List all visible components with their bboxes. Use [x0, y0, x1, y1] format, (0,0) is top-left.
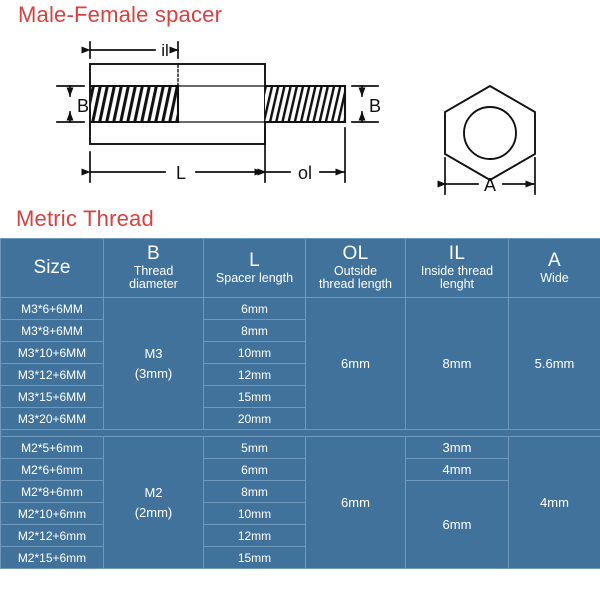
table-row: M3*6+6MMM3(3mm)6mm6mm8mm5.6mm — [1, 298, 600, 320]
cell-spacer-length: 20mm — [204, 408, 306, 430]
cell-inside-thread-length: 4mm — [406, 459, 509, 481]
label-ol: ol — [298, 163, 312, 183]
table-section-gap-cell — [1, 430, 600, 437]
cell-inside-thread-length: 3mm — [406, 437, 509, 459]
cell-wide: 4mm — [509, 437, 600, 569]
column-header-b-sub1: Thread — [104, 265, 203, 279]
cell-thread-diameter-paren: (2mm) — [104, 503, 203, 523]
column-header-b-sub2: diameter — [104, 278, 203, 292]
cell-spacer-length: 15mm — [204, 547, 306, 569]
spacer-technical-drawing: il B B L ol A — [0, 24, 600, 206]
cell-spacer-length: 10mm — [204, 342, 306, 364]
column-header-b-main: B — [104, 244, 203, 265]
cell-spacer-length: 8mm — [204, 320, 306, 342]
column-header-ol: OL Outside thread length — [306, 239, 406, 298]
page-title-metric-thread: Metric Thread — [16, 206, 154, 232]
spec-sheet-page: Male-Female spacer — [0, 0, 600, 600]
cell-size: M3*6+6MM — [1, 298, 104, 320]
table-body: M3*6+6MMM3(3mm)6mm6mm8mm5.6mmM3*8+6MM8mm… — [1, 298, 600, 569]
cell-thread-diameter: M3(3mm) — [104, 298, 204, 430]
cell-size: M2*10+6mm — [1, 503, 104, 525]
external-thread-hatch — [265, 86, 345, 122]
column-header-l-main: L — [204, 251, 305, 272]
cell-spacer-length: 6mm — [204, 459, 306, 481]
cell-inside-thread-length: 6mm — [406, 481, 509, 569]
cell-spacer-length: 15mm — [204, 386, 306, 408]
column-header-l: L Spacer length — [204, 239, 306, 298]
cell-size: M3*12+6MM — [1, 364, 104, 386]
cell-size: M3*15+6MM — [1, 386, 104, 408]
cell-spacer-length: 6mm — [204, 298, 306, 320]
label-b-left: B — [77, 96, 89, 116]
column-header-a-main: A — [509, 251, 600, 272]
internal-thread-hatch — [91, 86, 178, 122]
label-l: L — [176, 163, 186, 183]
column-header-il: IL Inside thread lenght — [406, 239, 509, 298]
metric-thread-spec-table-wrapper: Size B Thread diameter L Spacer length O… — [0, 238, 600, 569]
cell-size: M2*12+6mm — [1, 525, 104, 547]
cell-size: M2*6+6mm — [1, 459, 104, 481]
metric-thread-spec-table: Size B Thread diameter L Spacer length O… — [0, 238, 600, 569]
cell-inside-thread-length: 8mm — [406, 298, 509, 430]
table-header-row: Size B Thread diameter L Spacer length O… — [1, 239, 600, 298]
cell-size: M2*8+6mm — [1, 481, 104, 503]
cell-wide: 5.6mm — [509, 298, 600, 430]
cell-thread-diameter-value: M3 — [104, 344, 203, 364]
cell-thread-diameter: M2(2mm) — [104, 437, 204, 569]
column-header-il-main: IL — [406, 244, 508, 265]
column-header-il-sub2: lenght — [406, 278, 508, 292]
column-header-ol-sub2: thread length — [306, 278, 405, 292]
table-section-gap — [1, 430, 600, 437]
label-b-right: B — [369, 96, 381, 116]
column-header-size-label: Size — [1, 258, 103, 279]
label-il: il — [161, 41, 169, 60]
cell-size: M3*8+6MM — [1, 320, 104, 342]
cell-outside-thread-length: 6mm — [306, 298, 406, 430]
cell-spacer-length: 10mm — [204, 503, 306, 525]
cell-thread-diameter-value: M2 — [104, 483, 203, 503]
column-header-a-sub1: Wide — [509, 272, 600, 286]
column-header-a: A Wide — [509, 239, 600, 298]
column-header-ol-main: OL — [306, 244, 405, 265]
column-header-ol-sub1: Outside — [306, 265, 405, 279]
column-header-l-sub1: Spacer length — [204, 272, 305, 286]
cell-thread-diameter-paren: (3mm) — [104, 364, 203, 384]
cell-size: M3*10+6MM — [1, 342, 104, 364]
cell-spacer-length: 12mm — [204, 525, 306, 547]
table-row: M2*5+6mmM2(2mm)5mm6mm3mm4mm — [1, 437, 600, 459]
cell-spacer-length: 12mm — [204, 364, 306, 386]
column-header-il-sub1: Inside thread — [406, 265, 508, 279]
column-header-size: Size — [1, 239, 104, 298]
cell-spacer-length: 5mm — [204, 437, 306, 459]
cell-size: M2*5+6mm — [1, 437, 104, 459]
label-a: A — [484, 175, 496, 195]
cell-size: M2*15+6mm — [1, 547, 104, 569]
cell-outside-thread-length: 6mm — [306, 437, 406, 569]
column-header-b: B Thread diameter — [104, 239, 204, 298]
cell-spacer-length: 8mm — [204, 481, 306, 503]
cell-size: M3*20+6MM — [1, 408, 104, 430]
hex-end-view — [445, 86, 535, 180]
